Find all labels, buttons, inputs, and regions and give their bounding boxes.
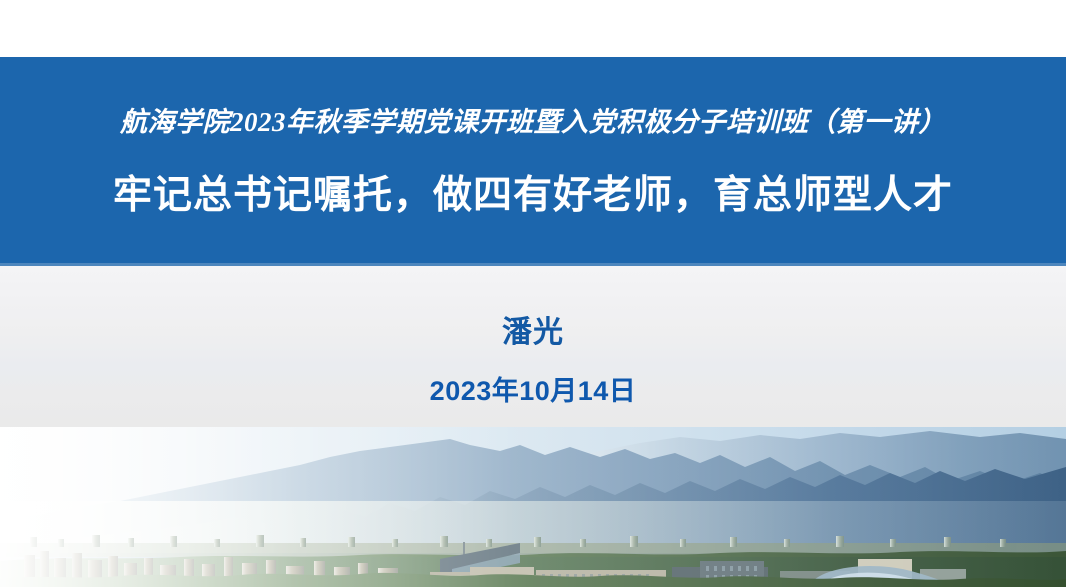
top-white-margin — [0, 0, 1066, 57]
slide-main-title: 牢记总书记嘱托，做四有好老师，育总师型人才 — [0, 170, 1066, 222]
campus-panorama-illustration — [0, 427, 1066, 587]
presenter-name: 潘光 — [0, 313, 1066, 353]
campus-panorama-photo — [0, 427, 1066, 587]
presentation-slide: 航海学院2023年秋季学期党课开班暨入党积极分子培训班（第一讲） 牢记总书记嘱托… — [0, 0, 1066, 587]
banner-eyebrow-text: 航海学院2023年秋季学期党课开班暨入党积极分子培训班（第一讲） — [0, 104, 1066, 140]
title-banner — [0, 57, 1066, 265]
presentation-date: 2023年10月14日 — [0, 373, 1066, 409]
